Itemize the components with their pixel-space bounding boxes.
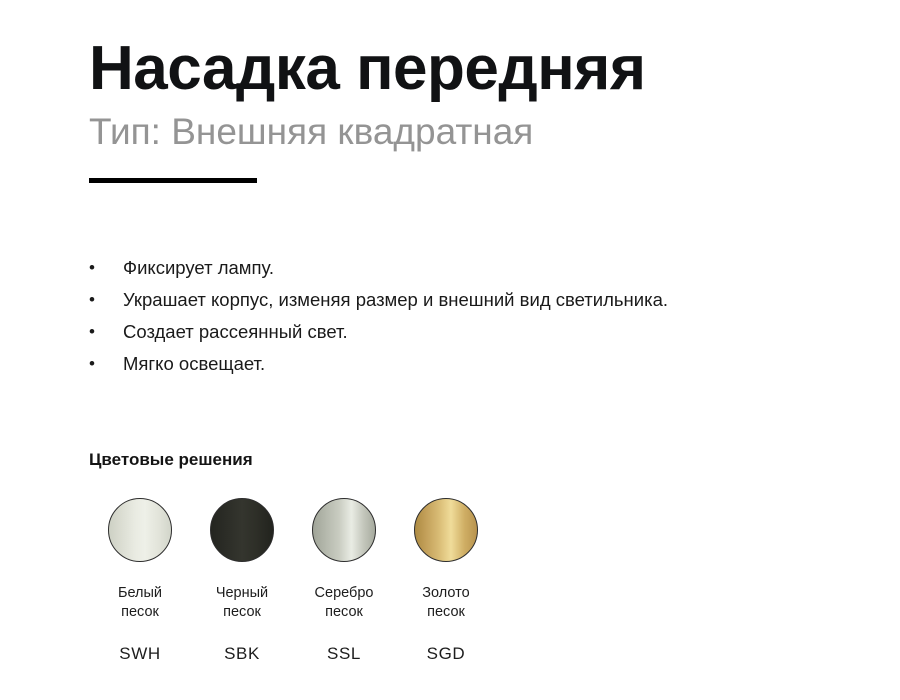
swatch-name: Черный песок xyxy=(216,584,268,622)
page-title: Насадка передняя xyxy=(89,36,849,101)
list-item: • Украшает корпус, изменяя размер и внеш… xyxy=(89,286,849,318)
list-item: • Мягко освещает. xyxy=(89,350,849,382)
list-item-label: Создает рассеянный свет. xyxy=(123,318,348,346)
swatch-disc-icon xyxy=(414,498,478,562)
color-swatch-ssl[interactable]: Серебро песок SSL xyxy=(293,498,395,664)
feature-list: • Фиксирует лампу. • Украшает корпус, из… xyxy=(89,254,849,382)
color-swatch-sbk[interactable]: Черный песок SBK xyxy=(191,498,293,664)
list-item: • Фиксирует лампу. xyxy=(89,254,849,286)
color-swatch-swh[interactable]: Белый песок SWH xyxy=(89,498,191,664)
page-subtitle: Тип: Внешняя квадратная xyxy=(89,111,849,154)
color-options-heading: Цветовые решения xyxy=(89,450,497,470)
list-item-label: Мягко освещает. xyxy=(123,350,265,378)
header: Насадка передняя Тип: Внешняя квадратная xyxy=(89,36,849,183)
list-item-label: Украшает корпус, изменяя размер и внешни… xyxy=(123,286,668,314)
swatch-code: SWH xyxy=(119,644,160,664)
bullet-icon: • xyxy=(89,350,123,378)
bullet-icon: • xyxy=(89,254,123,282)
swatch-disc-icon xyxy=(210,498,274,562)
bullet-icon: • xyxy=(89,318,123,346)
swatch-code: SBK xyxy=(224,644,260,664)
list-item: • Создает рассеянный свет. xyxy=(89,318,849,350)
slide-canvas: Насадка передняя Тип: Внешняя квадратная… xyxy=(0,0,900,700)
swatch-row: Белый песок SWH Черный песок SBK Серебро… xyxy=(89,498,497,664)
swatch-name: Белый песок xyxy=(118,584,162,622)
list-item-label: Фиксирует лампу. xyxy=(123,254,274,282)
swatch-disc-icon xyxy=(108,498,172,562)
bullet-icon: • xyxy=(89,286,123,314)
swatch-disc-icon xyxy=(312,498,376,562)
swatch-name: Серебро песок xyxy=(315,584,374,622)
color-options: Цветовые решения Белый песок SWH Черный … xyxy=(89,450,497,664)
swatch-code: SSL xyxy=(327,644,361,664)
swatch-name: Золото песок xyxy=(422,584,469,622)
swatch-code: SGD xyxy=(427,644,466,664)
title-divider xyxy=(89,178,257,183)
color-swatch-sgd[interactable]: Золото песок SGD xyxy=(395,498,497,664)
